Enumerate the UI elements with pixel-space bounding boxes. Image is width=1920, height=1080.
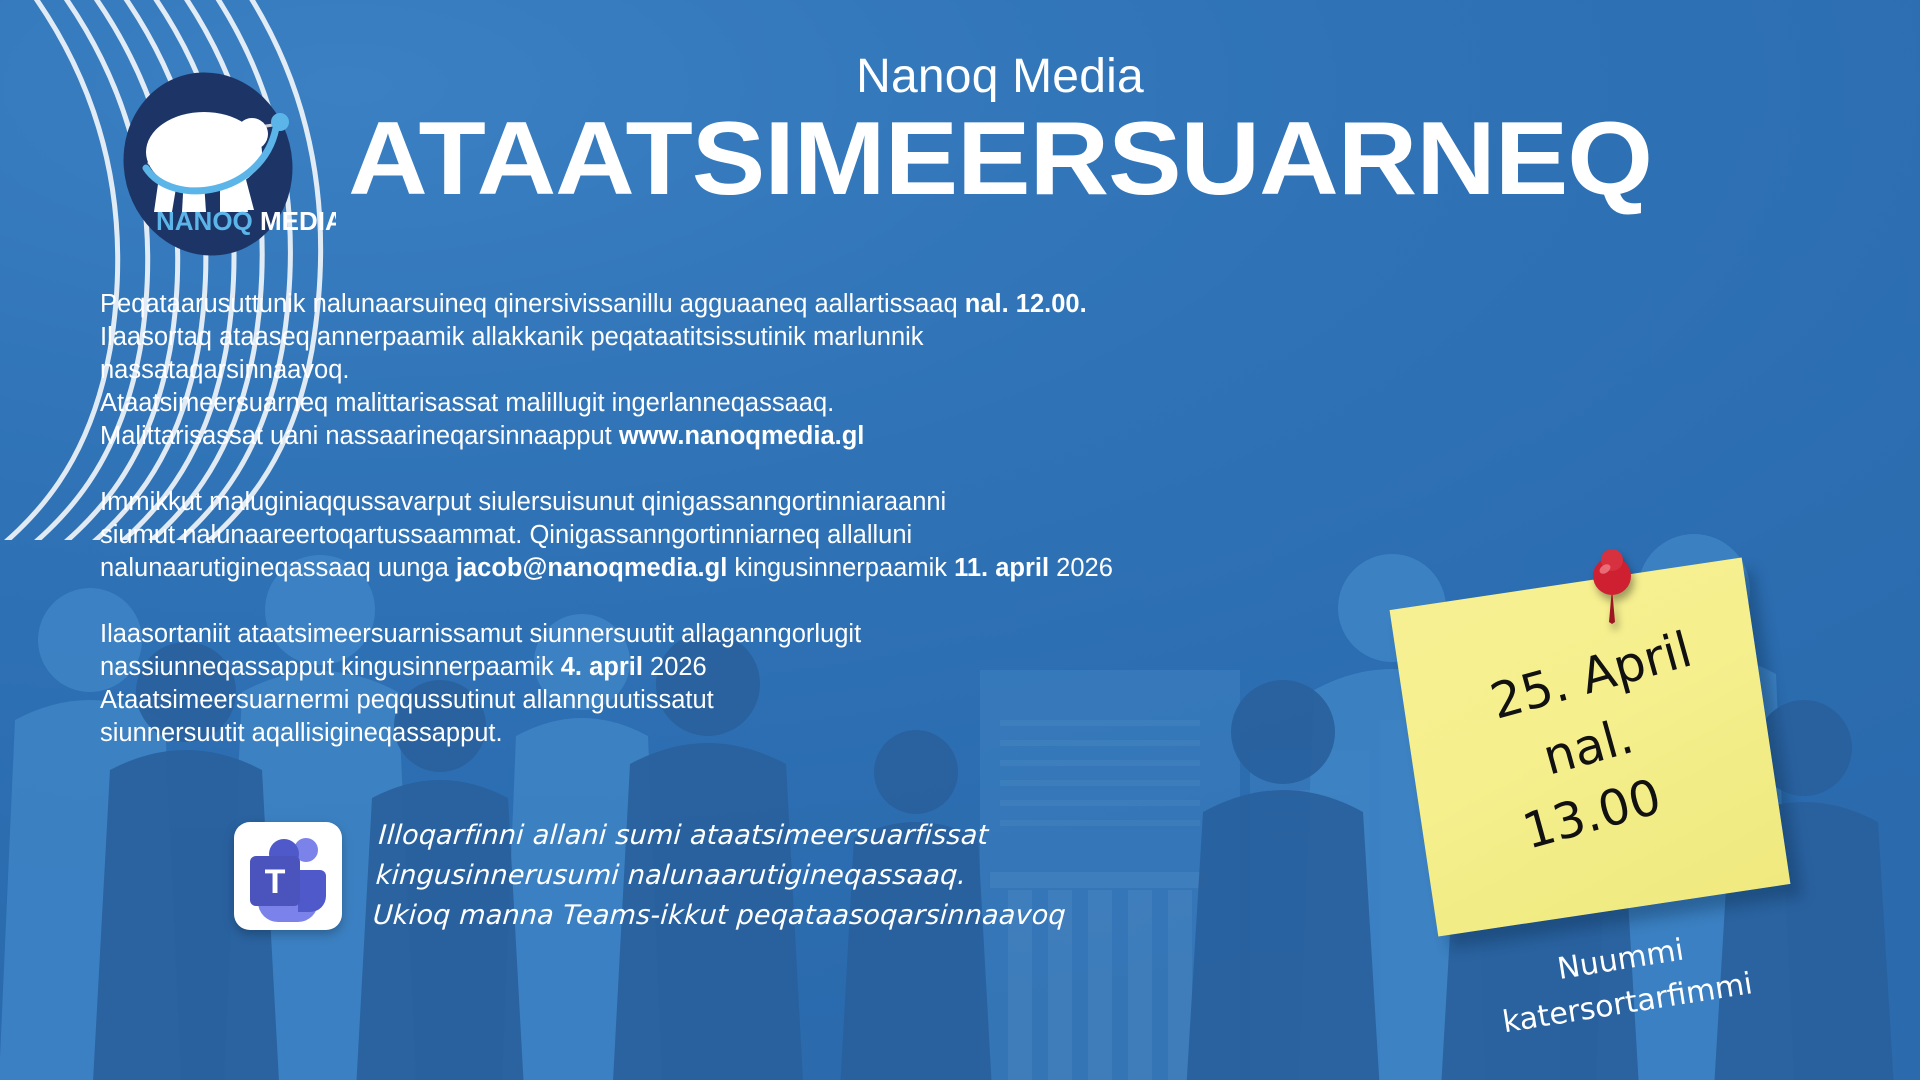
body-text: Ataatsimeersuarneq malittarisassat malil… — [100, 389, 834, 417]
body-emphasis: www.nanoqmedia.gl — [619, 422, 865, 450]
body-text: Peqataarusuttunik nalunaarsuineq qinersi… — [100, 290, 965, 318]
body-line: Ilaasortaniit ataatsimeersuarnissamut si… — [100, 618, 1330, 651]
body-text: Ataatsimeersuarnermi peqqussutinut allan… — [100, 686, 714, 714]
body-line: nassiunneqassapput kingusinnerpaamik 4. … — [100, 651, 1330, 684]
body-paragraph: Ilaasortaniit ataatsimeersuarnissamut si… — [100, 618, 1330, 750]
body-text: siumut nalunaareertoqartussaammat. Qinig… — [100, 521, 912, 549]
page-title: ATAATSIMEERSUARNEQ — [258, 106, 1742, 212]
teams-line-2: kingusinnerusumi nalunaarutigineqassaaq. — [374, 856, 1070, 896]
body-text: nalunaarutigineqassaaq uunga — [100, 554, 456, 582]
body-emphasis: nal. 12.00. — [965, 290, 1087, 318]
body-text: Ilaasortaniit ataatsimeersuarnissamut si… — [100, 620, 861, 648]
body-copy: Peqataarusuttunik nalunaarsuineq qinersi… — [100, 288, 1330, 750]
body-line: nalunaarutigineqassaaq uunga jacob@nanoq… — [100, 552, 1330, 585]
body-text: kingusinnerpaamik — [727, 554, 954, 582]
body-text: 2026 — [1049, 554, 1113, 582]
body-line: Ilaasortaq ataaseq annerpaamik allakkani… — [100, 321, 1330, 354]
microsoft-teams-icon: T — [232, 820, 344, 932]
body-emphasis: 4. april — [561, 653, 643, 681]
paragraph-gap — [100, 453, 1330, 486]
push-pin-icon — [1584, 548, 1640, 624]
body-emphasis: 11. april — [954, 554, 1049, 582]
body-paragraph: Peqataarusuttunik nalunaarsuineq qinersi… — [100, 288, 1330, 453]
body-text: Immikkut maluginiaqqussavarput siulersui… — [100, 488, 946, 516]
note-line-date: 25. April — [1485, 621, 1699, 732]
teams-note-block: T Illoqarfinni allani sumi ataatsimeersu… — [232, 816, 1073, 936]
teams-text: Illoqarfinni allani sumi ataatsimeersuar… — [372, 816, 1073, 936]
body-text: nassiunneqassapput kingusinnerpaamik — [100, 653, 561, 681]
body-line: siumut nalunaareertoqartussaammat. Qinig… — [100, 519, 1330, 552]
note-line-time: 13.00 — [1517, 768, 1668, 861]
logo-wordmark-nanoq: NANOQ — [156, 206, 253, 236]
poster-canvas: NANOQ MEDIA Nanoq Media ATAATSIMEERSUARN… — [0, 0, 1920, 1080]
body-text: Malittarisassat uani nassaarineqarsinnaa… — [100, 422, 619, 450]
poster-header: Nanoq Media ATAATSIMEERSUARNEQ — [300, 52, 1700, 212]
teams-line-1: Illoqarfinni allani sumi ataatsimeersuar… — [377, 816, 1073, 856]
sticky-note-group: 25. April nal. 13.00 — [1412, 582, 1812, 942]
paragraph-gap — [100, 585, 1330, 618]
body-line: Ataatsimeersuarnermi peqqussutinut allan… — [100, 684, 1330, 717]
body-text: 2026 — [643, 653, 707, 681]
teams-line-3: Ukioq manna Teams-ikkut peqataasoqarsinn… — [372, 896, 1068, 936]
body-emphasis: jacob@nanoqmedia.gl — [456, 554, 727, 582]
body-text: nassataqarsinnaavoq. — [100, 356, 350, 384]
body-paragraph: Immikkut maluginiaqqussavarput siulersui… — [100, 486, 1330, 585]
body-line: Immikkut maluginiaqqussavarput siulersui… — [100, 486, 1330, 519]
body-line: Ataatsimeersuarneq malittarisassat malil… — [100, 387, 1330, 420]
body-text: siunnersuutit aqallisigineqassapput. — [100, 719, 503, 747]
body-line: Peqataarusuttunik nalunaarsuineq qinersi… — [100, 288, 1330, 321]
body-line: nassataqarsinnaavoq. — [100, 354, 1330, 387]
svg-text:T: T — [265, 863, 286, 901]
body-line: siunnersuutit aqallisigineqassapput. — [100, 717, 1330, 750]
body-text: Ilaasortaq ataaseq annerpaamik allakkani… — [100, 323, 924, 351]
body-line: Malittarisassat uani nassaarineqarsinnaa… — [100, 420, 1330, 453]
brand-name: Nanoq Media — [300, 52, 1700, 102]
